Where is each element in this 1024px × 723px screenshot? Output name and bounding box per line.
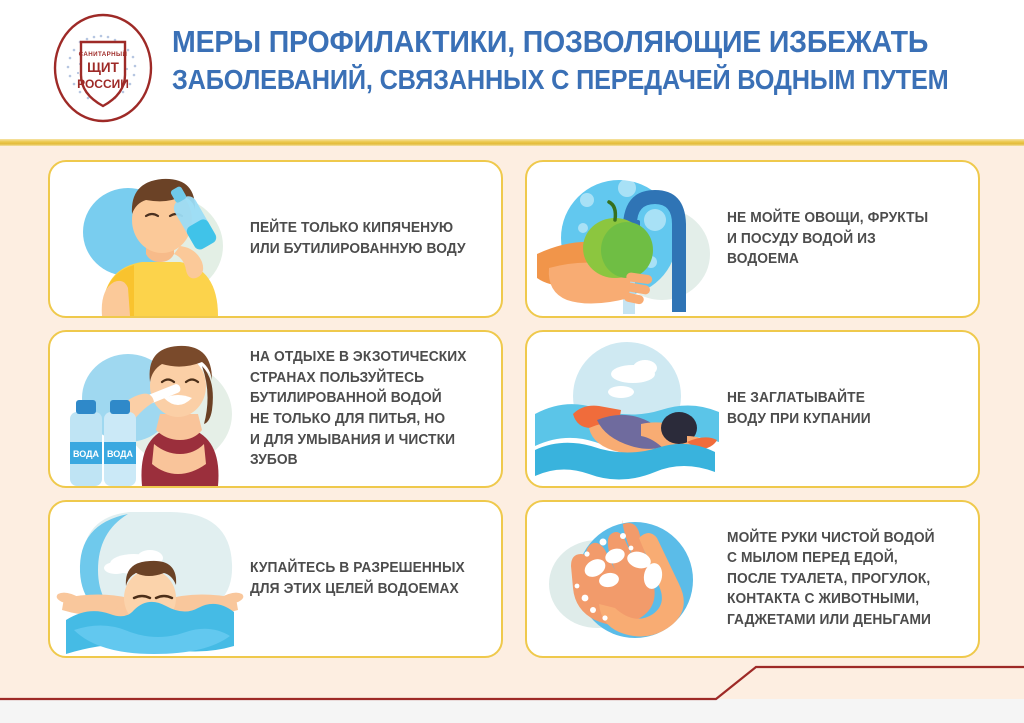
bottle-label: ВОДА <box>73 449 100 459</box>
bottle-label: ВОДА <box>107 449 134 459</box>
footer: Ваш Роспотребнадзор <box>0 660 1024 723</box>
card-text-line: НЕ ТОЛЬКО ДЛЯ ПИТЬЯ, НО <box>250 409 475 430</box>
hands-washing-with-soap-icon <box>527 502 727 656</box>
card-text: ПЕЙТЕ ТОЛЬКО КИПЯЧЕНУЮ ИЛИ БУТИЛИРОВАННУ… <box>250 218 488 259</box>
cards-grid: ПЕЙТЕ ТОЛЬКО КИПЯЧЕНУЮ ИЛИ БУТИЛИРОВАННУ… <box>48 160 980 658</box>
card-text-line: С МЫЛОМ ПЕРЕД ЕДОЙ, <box>727 548 952 569</box>
card-text-line: МОЙТЕ РУКИ ЧИСТОЙ ВОДОЙ <box>727 528 952 549</box>
page-title-line-1: МЕРЫ ПРОФИЛАКТИКИ, ПОЗВОЛЯЮЩИЕ ИЗБЕЖАТЬ <box>172 24 936 60</box>
card-text-line: КОНТАКТА С ЖИВОТНЫМИ, <box>727 589 952 610</box>
card-text-line: НА ОТДЫХЕ В ЭКЗОТИЧЕСКИХ <box>250 347 475 368</box>
person-swimming-front-crawl-icon <box>527 332 727 486</box>
card-text: НЕ МОЙТЕ ОВОЩИ, ФРУКТЫ И ПОСУДУ ВОДОЙ ИЗ… <box>727 208 965 270</box>
gold-divider <box>0 139 1024 146</box>
card-swim-only-in-permitted-waters[interactable]: КУПАЙТЕСЬ В РАЗРЕШЕННЫХ ДЛЯ ЭТИХ ЦЕЛЕЙ В… <box>48 500 503 658</box>
card-text-line: ГАДЖЕТАМИ ИЛИ ДЕНЬГАМИ <box>727 610 952 631</box>
logo-line-3: РОССИИ <box>77 77 129 91</box>
logo-line-1: САНИТАРНЫЙ <box>79 50 128 58</box>
card-text: КУПАЙТЕСЬ В РАЗРЕШЕННЫХ ДЛЯ ЭТИХ ЦЕЛЕЙ В… <box>250 558 488 599</box>
card-text: МОЙТЕ РУКИ ЧИСТОЙ ВОДОЙ С МЫЛОМ ПЕРЕД ЕД… <box>727 528 965 631</box>
faucet-hand-holding-apple-icon <box>527 162 727 316</box>
header: САНИТАРНЫЙ ЩИТ РОССИИ МЕРЫ ПРОФИЛАКТИКИ,… <box>0 0 1024 140</box>
card-text-line: ПЕЙТЕ ТОЛЬКО КИПЯЧЕНУЮ <box>250 218 475 239</box>
card-text-line: НЕ МОЙТЕ ОВОЩИ, ФРУКТЫ <box>727 208 952 229</box>
swimmer-butterfly-stroke-icon <box>50 502 250 656</box>
card-text-line: И ДЛЯ УМЫВАНИЯ И ЧИСТКИ <box>250 430 475 451</box>
card-text-line: ПОСЛЕ ТУАЛЕТА, ПРОГУЛОК, <box>727 569 952 590</box>
boy-drinking-bottled-water-icon <box>50 162 250 316</box>
sanitary-shield-of-russia-logo: САНИТАРНЫЙ ЩИТ РОССИИ <box>44 12 162 124</box>
cards-area: ПЕЙТЕ ТОЛЬКО КИПЯЧЕНУЮ ИЛИ БУТИЛИРОВАННУ… <box>0 146 1024 699</box>
card-text-line: ВОДУ ПРИ КУПАНИИ <box>727 409 952 430</box>
card-text-line: НЕ ЗАГЛАТЫВАЙТЕ <box>727 388 952 409</box>
card-text-line: ИЛИ БУТИЛИРОВАННУЮ ВОДУ <box>250 239 475 260</box>
card-text-line: И ПОСУДУ ВОДОЙ ИЗ <box>727 229 952 250</box>
logo-line-2: ЩИТ <box>87 60 119 75</box>
page-title-line-2: ЗАБОЛЕВАНИЙ, СВЯЗАННЫХ С ПЕРЕДАЧЕЙ ВОДНЫ… <box>172 64 936 96</box>
card-text: НА ОТДЫХЕ В ЭКЗОТИЧЕСКИХ СТРАНАХ ПОЛЬЗУЙ… <box>250 347 488 470</box>
footer-divider <box>0 660 1024 705</box>
card-text-line: СТРАНАХ ПОЛЬЗУЙТЕСЬ <box>250 368 475 389</box>
card-text-line: КУПАЙТЕСЬ В РАЗРЕШЕННЫХ <box>250 558 475 579</box>
card-text-line: ВОДОЕМА <box>727 249 952 270</box>
card-text-line: ДЛЯ ЭТИХ ЦЕЛЕЙ ВОДОЕМАХ <box>250 579 475 600</box>
card-boiled-or-bottled-water[interactable]: ПЕЙТЕ ТОЛЬКО КИПЯЧЕНУЮ ИЛИ БУТИЛИРОВАННУ… <box>48 160 503 318</box>
card-text-line: ЗУБОВ <box>250 450 475 471</box>
card-wash-hands-with-soap[interactable]: МОЙТЕ РУКИ ЧИСТОЙ ВОДОЙ С МЫЛОМ ПЕРЕД ЕД… <box>525 500 980 658</box>
card-do-not-wash-produce-in-reservoir-water[interactable]: НЕ МОЙТЕ ОВОЩИ, ФРУКТЫ И ПОСУДУ ВОДОЙ ИЗ… <box>525 160 980 318</box>
infographic-page: САНИТАРНЫЙ ЩИТ РОССИИ МЕРЫ ПРОФИЛАКТИКИ,… <box>0 0 1024 723</box>
card-text: НЕ ЗАГЛАТЫВАЙТЕ ВОДУ ПРИ КУПАНИИ <box>727 388 965 429</box>
card-text-line: БУТИЛИРОВАННОЙ ВОДОЙ <box>250 388 475 409</box>
card-do-not-swallow-water-while-swimming[interactable]: НЕ ЗАГЛАТЫВАЙТЕ ВОДУ ПРИ КУПАНИИ <box>525 330 980 488</box>
page-title: МЕРЫ ПРОФИЛАКТИКИ, ПОЗВОЛЯЮЩИЕ ИЗБЕЖАТЬ … <box>172 24 1002 96</box>
card-use-bottled-water-abroad[interactable]: ВОДА ВОДА НА ОТДЫХЕ В ЭКЗОТИЧЕСКИХ СТРАН… <box>48 330 503 488</box>
woman-brushing-teeth-with-bottles-icon: ВОДА ВОДА <box>50 332 250 486</box>
